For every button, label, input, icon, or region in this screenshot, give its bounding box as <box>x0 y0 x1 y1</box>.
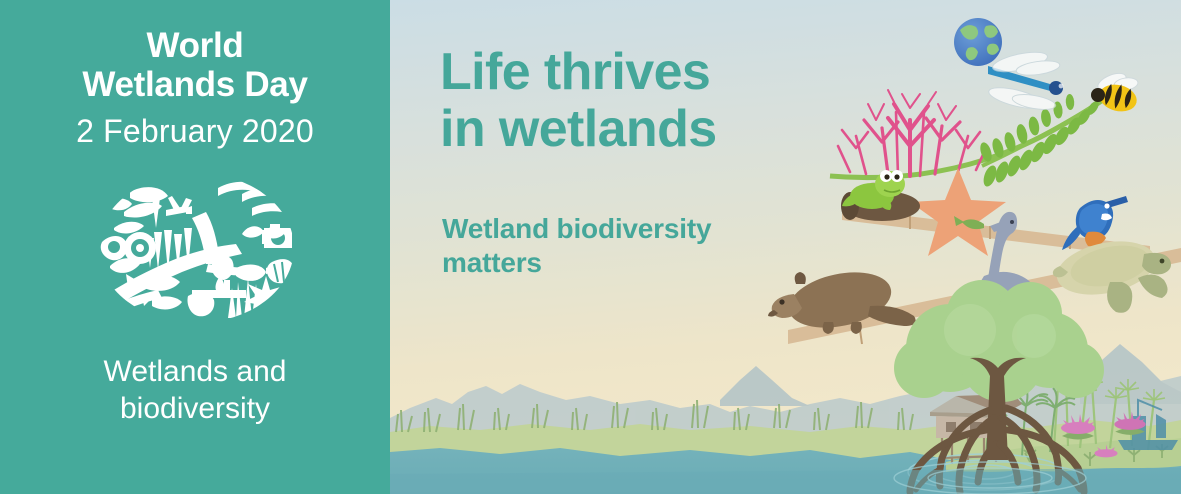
subhead-line-2: matters <box>442 246 711 280</box>
globe-icon <box>954 18 1002 66</box>
event-date: 2 February 2020 <box>0 113 390 150</box>
event-tagline-line-2: biodiversity <box>0 391 390 428</box>
headline-line-1: Life thrives <box>440 44 717 101</box>
event-title-line-1: World <box>0 26 390 65</box>
event-title: World Wetlands Day <box>0 26 390 104</box>
page-title: Life thrives in wetlands <box>440 44 717 158</box>
headline-line-2: in wetlands <box>440 101 717 158</box>
event-title-line-2: Wetlands Day <box>0 65 390 104</box>
event-tagline: Wetlands and biodiversity <box>0 354 390 427</box>
subhead-line-1: Wetland biodiversity <box>442 212 711 246</box>
world-wetlands-day-banner: Life thrives in wetlands Wetland biodive… <box>0 0 1181 494</box>
event-tagline-line-1: Wetlands and <box>0 354 390 391</box>
branding-panel: World Wetlands Day 2 February 2020 <box>0 0 390 494</box>
page-subtitle: Wetland biodiversity matters <box>442 212 711 280</box>
wetlands-collage-circle-logo <box>96 172 296 324</box>
